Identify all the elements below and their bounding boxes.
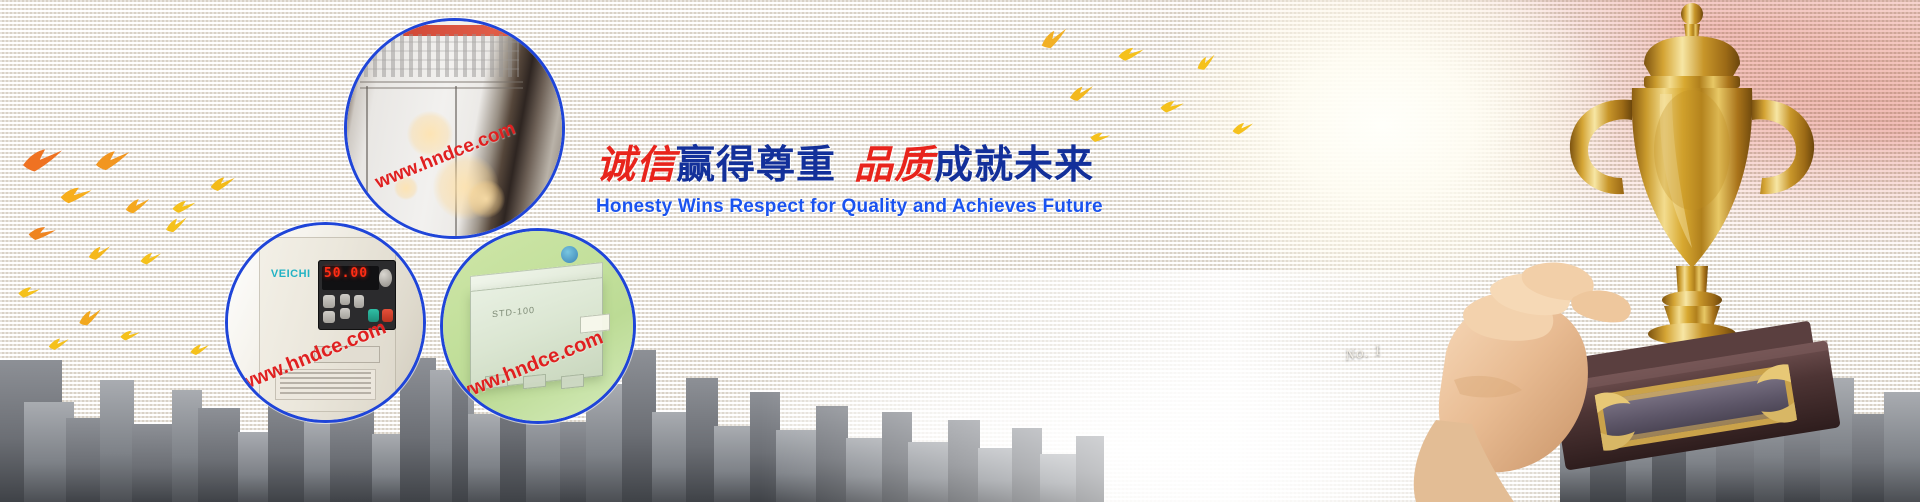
slogan-part-4: 成就未来 [934, 143, 1094, 188]
slogan-subtitle: Honesty Wins Respect for Quality and Ach… [596, 196, 1066, 218]
product-photo-std-100[interactable]: STD-100 www.hndce.com [440, 228, 636, 424]
promo-banner: www.hndce.com VEICHI 50.00 www.hndce.co [0, 0, 1920, 502]
product-photo-veichi-inverter[interactable]: VEICHI 50.00 www.hndce.com [225, 222, 426, 423]
slogan-part-1: 诚信 [596, 143, 676, 188]
slogan-line: 诚信赢得尊重品质成就未来 [596, 146, 1066, 187]
inverter-brand-label: VEICHI [271, 268, 311, 280]
product-photo-control-cabinet[interactable]: www.hndce.com [344, 18, 565, 239]
control-cabinet-photo [347, 21, 562, 236]
slogan-block: 诚信赢得尊重品质成就未来 Honesty Wins Respect for Qu… [596, 146, 1066, 218]
veichi-inverter-photo: VEICHI 50.00 [228, 225, 423, 420]
slogan-part-2: 赢得尊重 [676, 143, 836, 188]
slogan-part-3: 品质 [854, 143, 934, 188]
std-100-photo: STD-100 [443, 231, 633, 421]
inverter-display-value: 50.00 [324, 266, 368, 281]
